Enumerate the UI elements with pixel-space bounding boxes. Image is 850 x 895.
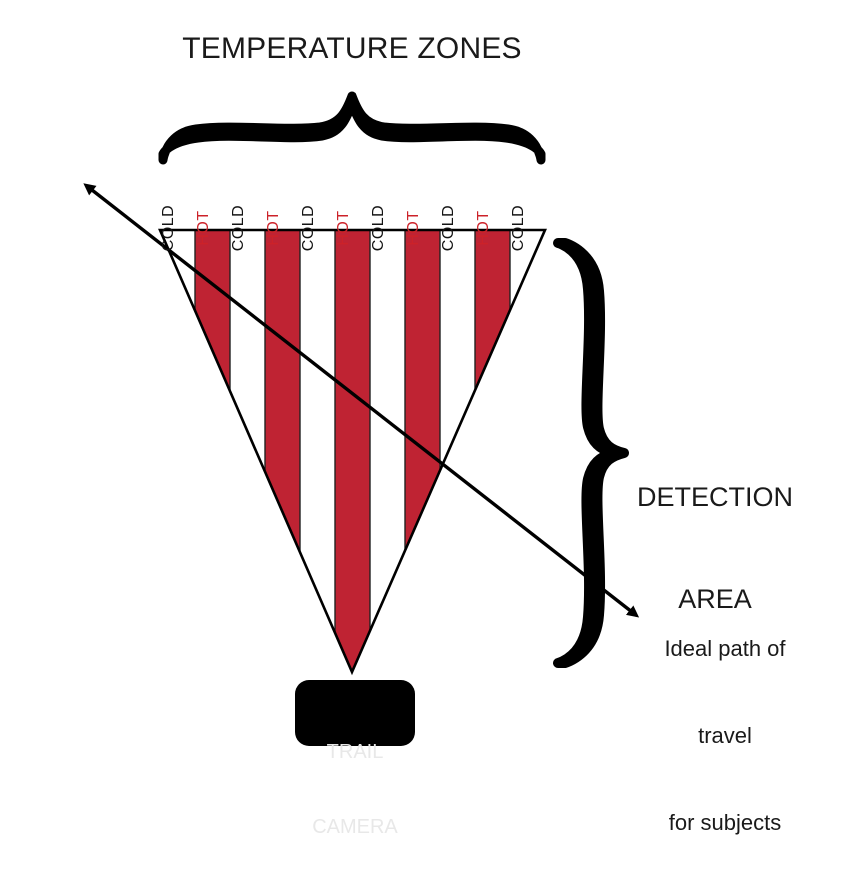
temperature-zones-brace-icon [163,96,541,160]
ideal-path-line-1: Ideal path of [620,634,830,663]
zone-label-cold: COLD [440,205,458,251]
zone-label-cold: COLD [230,205,248,251]
ideal-path-line-2: travel [620,721,830,750]
zone-slot: HOT [335,168,370,228]
diagram-canvas: TEMPERATURE ZONES COLD HOT COLD HOT COLD… [0,0,850,812]
zone-label-cold: COLD [160,205,178,251]
hot-stripe [475,228,510,688]
hot-stripe [195,228,230,688]
zone-label-cold: COLD [370,205,388,251]
zone-label-hot: HOT [265,210,283,245]
zone-label-hot: HOT [405,210,423,245]
zone-label-hot: HOT [335,210,353,245]
zone-slot: COLD [440,168,475,228]
zone-slot: COLD [370,168,405,228]
hot-zone-stripes [195,228,510,688]
zone-slot: HOT [265,168,300,228]
trail-camera-label: TRAIL CAMERA [295,690,415,890]
zone-slot: HOT [195,168,230,228]
zone-label-cold: COLD [300,205,318,251]
zone-label-hot: HOT [475,210,493,245]
hot-stripe [265,228,300,688]
zone-slot: HOT [475,168,510,228]
ideal-path-line-3: for subjects [620,808,830,837]
trail-camera-line-2: CAMERA [295,815,415,840]
zone-label-hot: HOT [195,210,213,245]
page-title: TEMPERATURE ZONES [0,32,704,66]
trail-camera-line-1: TRAIL [295,740,415,765]
zone-slot: COLD [160,168,195,228]
zone-slot: COLD [300,168,335,228]
zone-slot: HOT [405,168,440,228]
ideal-path-label: Ideal path of travel for subjects [620,576,830,895]
zone-label-row: COLD HOT COLD HOT COLD HOT COLD HOT COLD… [160,168,545,228]
hot-stripe [335,228,370,688]
detection-area-line-1: DETECTION [600,480,830,514]
zone-slot: COLD [230,168,265,228]
zone-label-cold: COLD [510,205,528,251]
zone-slot: COLD [510,168,545,228]
